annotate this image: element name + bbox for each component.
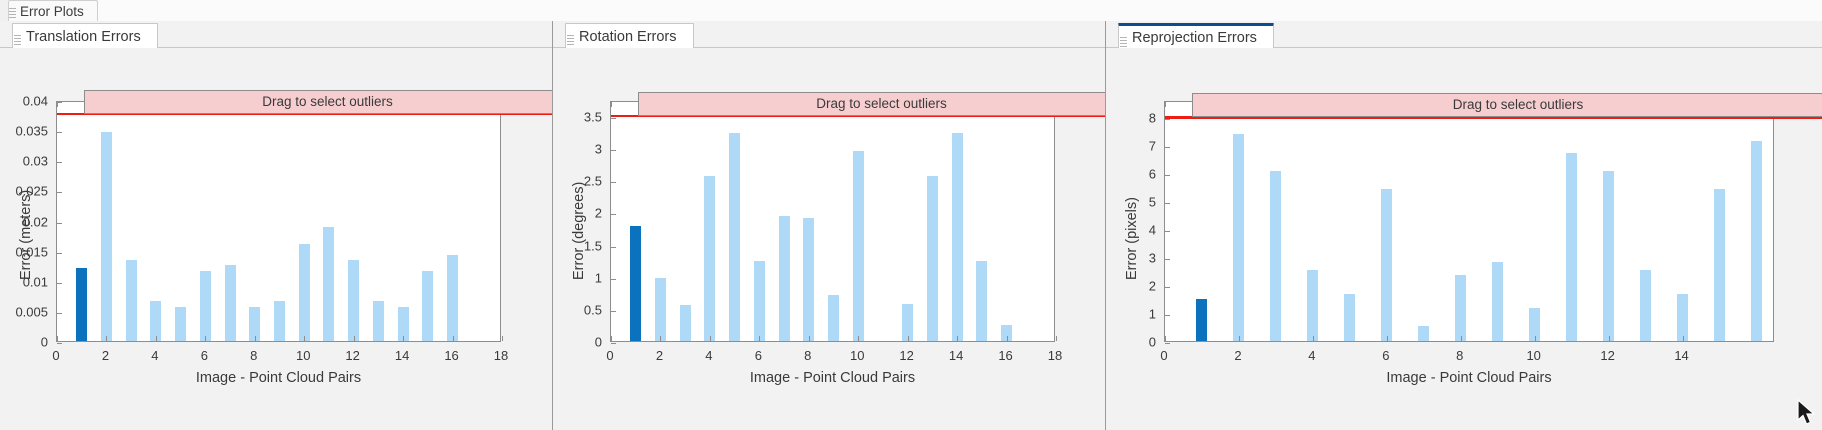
- bar[interactable]: [1492, 262, 1503, 341]
- x-axis-title: Image - Point Cloud Pairs: [56, 370, 501, 386]
- tab-translation-errors[interactable]: Translation Errors: [12, 23, 158, 48]
- x-tick-label: 6: [1382, 348, 1389, 363]
- bar[interactable]: [1714, 189, 1725, 341]
- bar[interactable]: [803, 218, 814, 341]
- bar[interactable]: [1381, 189, 1392, 341]
- bar[interactable]: [1603, 171, 1614, 341]
- y-tick-mark: [57, 162, 62, 163]
- bar[interactable]: [1677, 294, 1688, 341]
- bar[interactable]: [126, 260, 137, 341]
- x-tick-mark: [1461, 336, 1462, 341]
- y-tick-mark: [1165, 287, 1170, 288]
- bar[interactable]: [729, 133, 740, 341]
- bar[interactable]: [274, 301, 285, 341]
- x-tick-label: 2: [656, 348, 663, 363]
- x-tick-mark: [908, 336, 909, 341]
- x-tick-label: 10: [850, 348, 864, 363]
- y-tick-mark: [57, 253, 62, 254]
- y-tick-mark: [611, 279, 616, 280]
- x-tick-mark: [1535, 336, 1536, 341]
- x-tick-label: 8: [250, 348, 257, 363]
- bar[interactable]: [1566, 153, 1577, 341]
- bar[interactable]: [976, 261, 987, 341]
- y-tick-label: 0.04: [0, 94, 48, 109]
- tab-error-plots-label: Error Plots: [20, 4, 84, 19]
- mouse-cursor-icon: [1794, 398, 1820, 428]
- y-tick-mark: [611, 343, 616, 344]
- x-tick-label: 16: [998, 348, 1012, 363]
- x-tick-label: 0: [52, 348, 59, 363]
- outlier-band-label: Drag to select outliers: [262, 94, 393, 109]
- x-tick-mark: [660, 336, 661, 341]
- y-tick-mark: [1165, 315, 1170, 316]
- x-tick-label: 12: [345, 348, 359, 363]
- y-tick-mark: [57, 102, 62, 103]
- y-tick-mark: [1165, 203, 1170, 204]
- x-tick-mark: [957, 336, 958, 341]
- bar[interactable]: [373, 301, 384, 341]
- outlier-selection-band[interactable]: Drag to select outliers: [638, 92, 1125, 116]
- x-tick-label: 4: [1308, 348, 1315, 363]
- y-tick-label: 8: [1106, 110, 1156, 125]
- x-tick-label: 14: [395, 348, 409, 363]
- tab-error-plots[interactable]: Error Plots: [8, 0, 98, 21]
- x-tick-label: 14: [1674, 348, 1688, 363]
- y-tick-label: 0: [553, 335, 602, 350]
- plot-area[interactable]: [1164, 101, 1774, 342]
- bar[interactable]: [175, 307, 186, 341]
- x-tick-mark: [502, 336, 503, 341]
- bar[interactable]: [422, 271, 433, 341]
- x-tick-mark: [1387, 336, 1388, 341]
- x-tick-mark: [205, 336, 206, 341]
- y-tick-mark: [611, 182, 616, 183]
- x-tick-mark: [255, 336, 256, 341]
- bar[interactable]: [1233, 134, 1244, 341]
- x-tick-label: 18: [494, 348, 508, 363]
- bar[interactable]: [76, 268, 87, 341]
- plot-area[interactable]: [610, 101, 1055, 342]
- x-tick-label: 18: [1048, 348, 1062, 363]
- outlier-band-label: Drag to select outliers: [816, 96, 947, 111]
- x-tick-mark: [57, 336, 58, 341]
- x-tick-label: 10: [296, 348, 310, 363]
- bar[interactable]: [1751, 141, 1762, 341]
- x-tick-label: 4: [705, 348, 712, 363]
- x-tick-mark: [1165, 336, 1166, 341]
- y-tick-label: 0: [1106, 335, 1156, 350]
- inner-tab-row: Reprojection Errors: [1106, 21, 1822, 48]
- bar[interactable]: [447, 255, 458, 341]
- y-tick-mark: [611, 311, 616, 312]
- outlier-selection-band[interactable]: Drag to select outliers: [1192, 93, 1822, 117]
- panel-error--meters-: Translation ErrorsDrag to select outlier…: [0, 21, 552, 430]
- y-tick-label: 0.005: [0, 304, 48, 319]
- error-plot-panels: Translation ErrorsDrag to select outlier…: [0, 21, 1822, 430]
- bar[interactable]: [680, 305, 691, 341]
- bar[interactable]: [299, 244, 310, 341]
- y-tick-mark: [611, 118, 616, 119]
- y-tick-mark: [611, 214, 616, 215]
- outlier-selection-band[interactable]: Drag to select outliers: [84, 90, 571, 114]
- y-axis-title: Error (meters): [18, 189, 34, 279]
- bar[interactable]: [1196, 299, 1207, 341]
- x-tick-mark: [1007, 336, 1008, 341]
- x-axis-title: Image - Point Cloud Pairs: [1164, 370, 1774, 386]
- bar[interactable]: [101, 132, 112, 341]
- y-tick-label: 2: [1106, 278, 1156, 293]
- x-tick-mark: [156, 336, 157, 341]
- outer-tab-strip: Error Plots: [0, 0, 1822, 21]
- x-tick-mark-top: [1165, 102, 1166, 107]
- tab-rotation-errors[interactable]: Rotation Errors: [565, 23, 694, 48]
- y-axis-title: Error (degrees): [571, 181, 587, 279]
- y-tick-mark: [57, 223, 62, 224]
- y-tick-label: 1: [1106, 306, 1156, 321]
- x-tick-label: 2: [1234, 348, 1241, 363]
- x-tick-mark: [611, 336, 612, 341]
- x-tick-mark: [710, 336, 711, 341]
- y-tick-mark: [57, 283, 62, 284]
- tab-label: Reprojection Errors: [1132, 30, 1257, 46]
- error-plots-window: Error Plots Translation ErrorsDrag to se…: [0, 0, 1822, 430]
- x-tick-mark-top: [611, 102, 612, 107]
- tab-label: Rotation Errors: [579, 29, 677, 45]
- bar[interactable]: [754, 261, 765, 341]
- x-tick-mark: [106, 336, 107, 341]
- y-tick-mark: [1165, 147, 1170, 148]
- inner-tab-row: Rotation Errors: [553, 21, 1105, 48]
- x-axis-title: Image - Point Cloud Pairs: [610, 370, 1055, 386]
- bar[interactable]: [853, 151, 864, 341]
- y-tick-label: 0.03: [0, 154, 48, 169]
- x-tick-label: 0: [606, 348, 613, 363]
- bar[interactable]: [348, 260, 359, 341]
- drag-handle-icon[interactable]: [1120, 35, 1127, 49]
- x-tick-label: 0: [1160, 348, 1167, 363]
- bar[interactable]: [779, 216, 790, 341]
- y-tick-label: 0: [0, 335, 48, 350]
- outer-tabstrip-filler: [92, 0, 1822, 22]
- bar[interactable]: [1455, 275, 1466, 341]
- bar[interactable]: [828, 295, 839, 341]
- x-tick-label: 6: [201, 348, 208, 363]
- x-tick-label: 6: [755, 348, 762, 363]
- x-tick-mark: [354, 336, 355, 341]
- x-tick-mark: [453, 336, 454, 341]
- x-tick-mark: [858, 336, 859, 341]
- y-tick-label: 7: [1106, 138, 1156, 153]
- y-tick-mark: [1165, 231, 1170, 232]
- bar[interactable]: [200, 271, 211, 341]
- y-tick-label: 3.5: [553, 110, 602, 125]
- y-tick-mark: [1165, 119, 1170, 120]
- bar[interactable]: [927, 176, 938, 341]
- x-tick-mark: [403, 336, 404, 341]
- y-tick-mark: [57, 313, 62, 314]
- x-tick-label: 8: [804, 348, 811, 363]
- x-tick-mark: [1313, 336, 1314, 341]
- x-tick-mark: [809, 336, 810, 341]
- y-tick-mark: [57, 132, 62, 133]
- figure: Drag to select outliers01234567802468101…: [1106, 48, 1822, 430]
- inner-tab-row: Translation Errors: [0, 21, 552, 48]
- y-tick-label: 0.035: [0, 124, 48, 139]
- y-axis-title: Error (pixels): [1124, 197, 1140, 280]
- tab-reprojection-errors[interactable]: Reprojection Errors: [1118, 23, 1274, 48]
- bar[interactable]: [225, 265, 236, 341]
- panel-error--degrees-: Rotation ErrorsDrag to select outliers00…: [553, 21, 1105, 430]
- y-tick-mark: [611, 150, 616, 151]
- x-tick-mark: [304, 336, 305, 341]
- outlier-band-label: Drag to select outliers: [1453, 97, 1584, 112]
- y-tick-mark: [611, 247, 616, 248]
- x-tick-label: 12: [899, 348, 913, 363]
- x-tick-label: 2: [102, 348, 109, 363]
- figure: Drag to select outliers00.511.522.533.50…: [553, 48, 1105, 430]
- x-tick-label: 4: [151, 348, 158, 363]
- y-tick-mark: [57, 343, 62, 344]
- y-tick-label: 6: [1106, 166, 1156, 181]
- y-tick-mark: [1165, 343, 1170, 344]
- y-tick-label: 3: [553, 142, 602, 157]
- x-tick-label: 10: [1526, 348, 1540, 363]
- drag-handle-icon[interactable]: [9, 6, 16, 20]
- bar[interactable]: [655, 278, 666, 341]
- bar[interactable]: [1418, 326, 1429, 341]
- y-tick-mark: [57, 192, 62, 193]
- x-tick-label: 12: [1600, 348, 1614, 363]
- bar[interactable]: [1307, 270, 1318, 341]
- y-tick-mark: [1165, 175, 1170, 176]
- x-tick-mark: [1056, 336, 1057, 341]
- x-tick-mark: [1683, 336, 1684, 341]
- bar[interactable]: [1344, 294, 1355, 341]
- bar[interactable]: [704, 176, 715, 341]
- plot-area[interactable]: [56, 101, 501, 342]
- x-tick-label: 14: [949, 348, 963, 363]
- x-tick-mark: [759, 336, 760, 341]
- bar[interactable]: [1640, 270, 1651, 341]
- x-tick-mark: [1609, 336, 1610, 341]
- bar[interactable]: [952, 133, 963, 341]
- y-tick-label: 0.5: [553, 302, 602, 317]
- drag-handle-icon[interactable]: [14, 33, 21, 47]
- bar[interactable]: [630, 226, 641, 341]
- drag-handle-icon[interactable]: [567, 33, 574, 47]
- panel-error--pixels-: Reprojection ErrorsDrag to select outlie…: [1106, 21, 1822, 430]
- x-tick-mark: [1239, 336, 1240, 341]
- x-tick-label: 8: [1456, 348, 1463, 363]
- tab-label: Translation Errors: [26, 29, 141, 45]
- figure: Drag to select outliers00.0050.010.0150.…: [0, 48, 552, 430]
- y-tick-mark: [1165, 259, 1170, 260]
- x-tick-label: 16: [444, 348, 458, 363]
- bar[interactable]: [323, 227, 334, 341]
- bar[interactable]: [1270, 171, 1281, 341]
